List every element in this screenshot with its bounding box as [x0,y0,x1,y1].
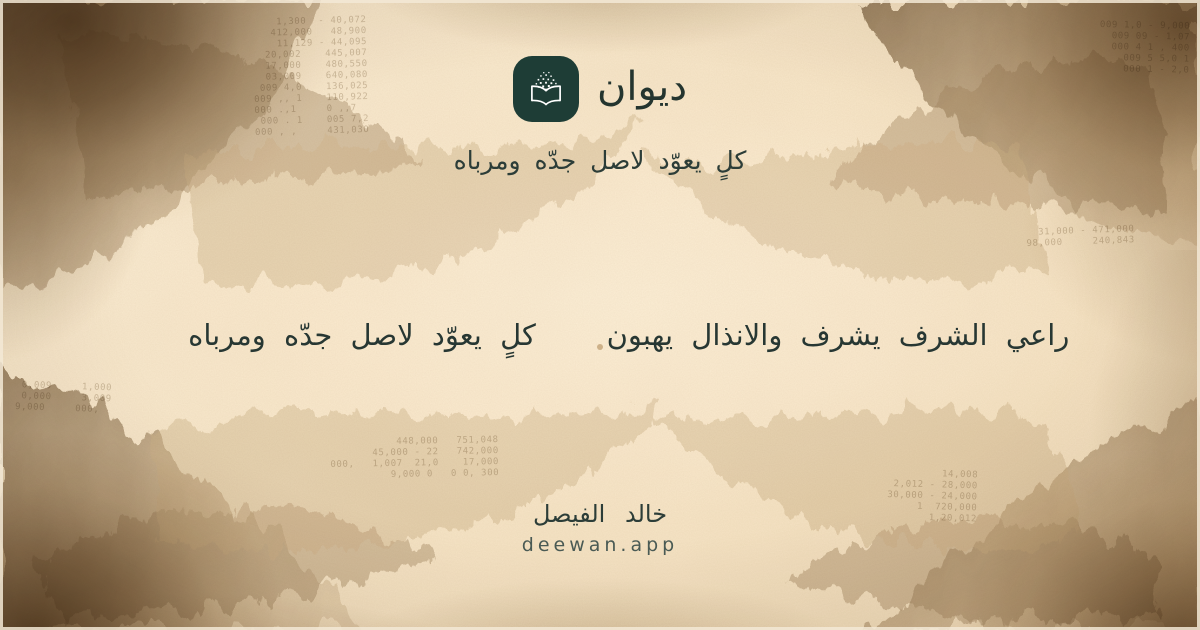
verse-line: راعي الشرف يشرف والانذال يهبون كلٍ يعوّد… [0,318,1200,352]
hemistich-left: راعي الشرف يشرف والانذال يهبون [603,318,1091,352]
open-book-sparkles-icon [525,68,567,110]
poetry-card: 40,072 - 1,300 48,900 412,000 44,095 - 1… [0,0,1200,630]
tagline: كلٍ يعوّد لاصل جدّه ومرباه [454,146,747,175]
poet-name: خالد الفيصل [533,500,667,528]
deewan-logo [513,56,579,122]
card-content: ديوان كلٍ يعوّد لاصل جدّه ومرباه راعي ال… [0,0,1200,630]
site-url: deewan.app [522,534,678,556]
verse-separator-dot [597,344,603,350]
card-footer: خالد الفيصل deewan.app [0,500,1200,556]
brand-header: ديوان [513,56,687,122]
hemistich-right: كلٍ يعوّد لاصل جدّه ومرباه [109,318,597,352]
brand-name: ديوان [597,67,687,111]
